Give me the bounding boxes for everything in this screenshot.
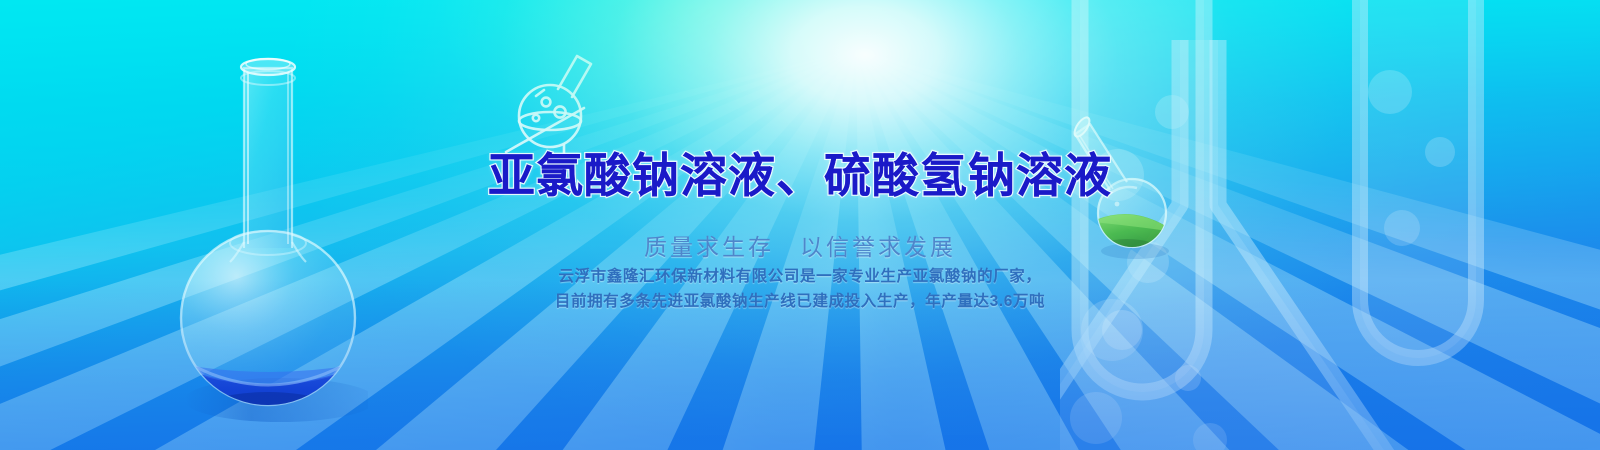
sunburst-rays-svg	[0, 0, 1600, 450]
promo-banner: 亚氯酸钠溶液、硫酸氢钠溶液 亚氯酸钠溶液、硫酸氢钠溶液 质量求生存 以信誉求发展…	[0, 0, 1600, 450]
sunburst-rays	[0, 0, 1600, 450]
